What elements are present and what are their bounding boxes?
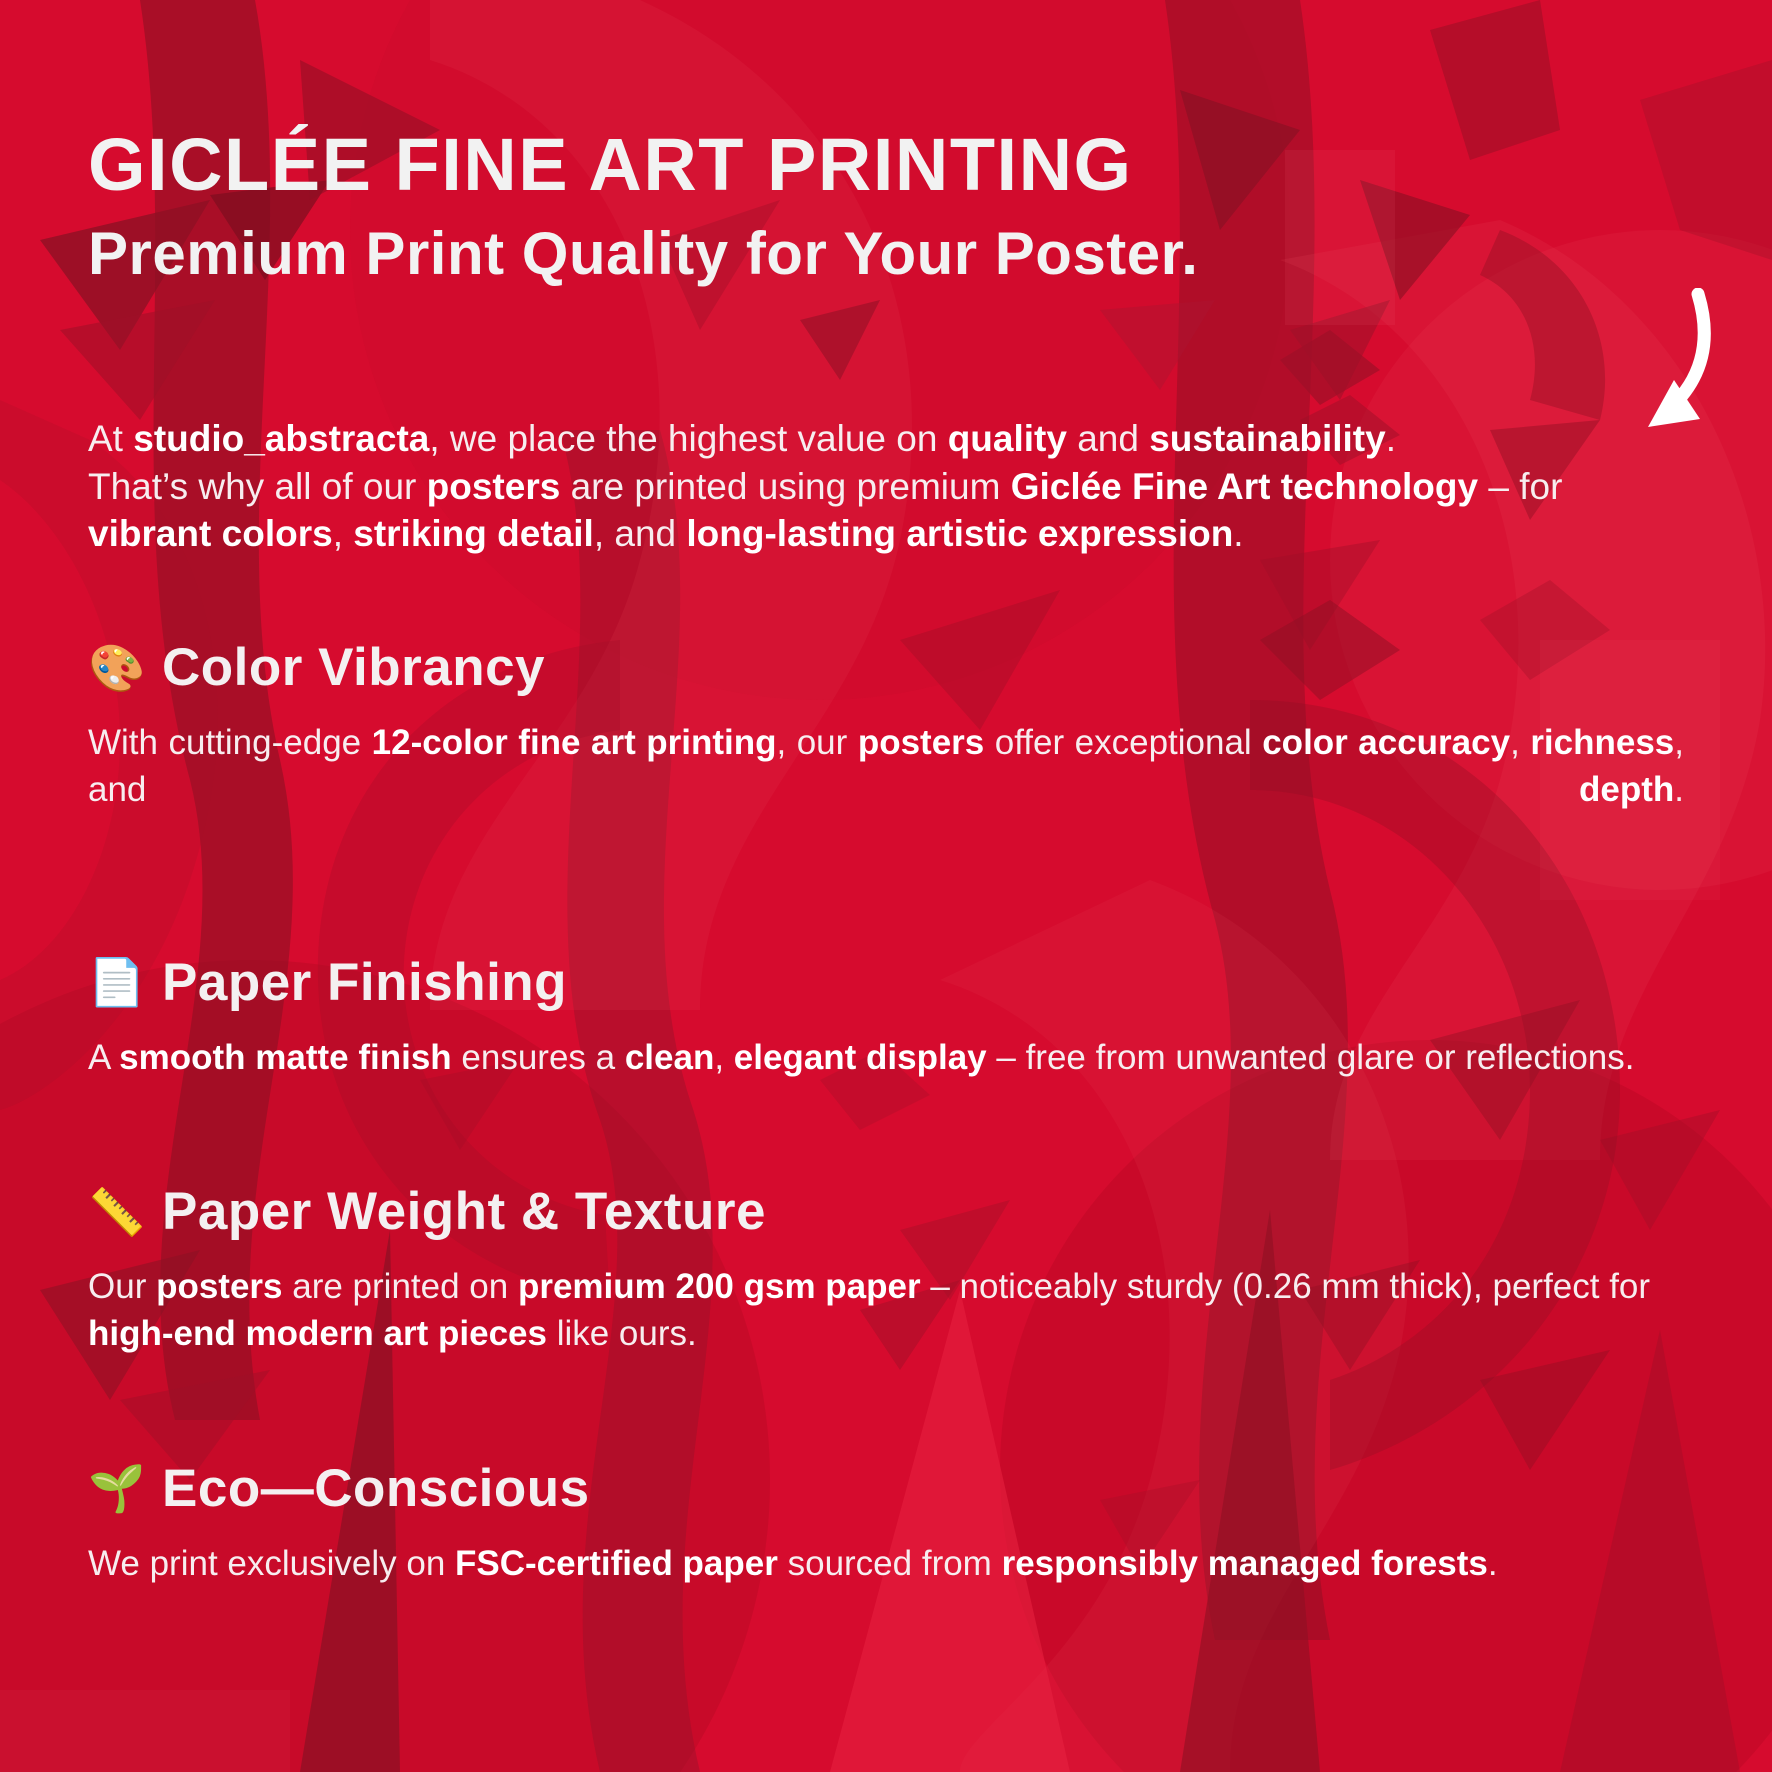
- body-text: , our: [777, 723, 858, 762]
- section-heading: 📄 Paper Finishing: [88, 956, 1684, 1009]
- body-text: ,: [714, 1038, 733, 1077]
- body-text: – free from unwanted glare or reflection…: [987, 1038, 1635, 1077]
- intro-emph: posters: [427, 466, 561, 507]
- body-text: ensures a: [452, 1038, 625, 1077]
- body-emph: richness: [1530, 723, 1674, 762]
- intro-emph: Giclée Fine Art technology: [1011, 466, 1478, 507]
- section-title: Paper Weight & Texture: [162, 1185, 766, 1238]
- section-title: Paper Finishing: [162, 956, 567, 1009]
- page-subtitle: Premium Print Quality for Your Poster.: [88, 220, 1684, 287]
- body-emph: smooth matte finish: [119, 1038, 452, 1077]
- intro-text: – for: [1478, 466, 1562, 507]
- section-title: Eco—Conscious: [162, 1462, 590, 1515]
- artist-palette-icon: 🎨: [88, 645, 140, 691]
- section-heading: 🎨 Color Vibrancy: [88, 641, 1684, 694]
- page-document-icon: 📄: [88, 959, 140, 1005]
- intro-emph: long-lasting artistic expression: [686, 513, 1233, 554]
- body-emph: elegant display: [734, 1038, 987, 1077]
- body-emph: FSC-certified paper: [455, 1544, 778, 1583]
- intro-text: and: [1067, 418, 1149, 459]
- section-heading: 📏 Paper Weight & Texture: [88, 1185, 1684, 1238]
- body-text: like ours.: [547, 1314, 697, 1353]
- body-emph: high-end modern art pieces: [88, 1314, 547, 1353]
- body-text: are printed on: [283, 1267, 518, 1306]
- straight-ruler-icon: 📏: [88, 1189, 140, 1235]
- body-text: Our: [88, 1267, 156, 1306]
- intro-text: At: [88, 418, 133, 459]
- intro-paragraph: At studio_abstracta, we place the highes…: [88, 415, 1684, 557]
- body-emph: color accuracy: [1262, 723, 1510, 762]
- body-text: ,: [1510, 723, 1530, 762]
- intro-text: .: [1233, 513, 1243, 554]
- seedling-icon: 🌱: [88, 1465, 140, 1511]
- section-body: With cutting-edge 12-color fine art prin…: [88, 720, 1684, 860]
- section-eco-conscious: 🌱 Eco—Conscious We print exclusively on …: [88, 1462, 1684, 1588]
- section-paper-finishing: 📄 Paper Finishing A smooth matte finish …: [88, 956, 1684, 1082]
- body-text: – noticeably sturdy (0.26 mm thick), per…: [921, 1267, 1650, 1306]
- poster-canvas: GICLÉE FINE ART PRINTING Premium Print Q…: [0, 0, 1772, 1772]
- intro-text: are printed using premium: [560, 466, 1010, 507]
- section-title: Color Vibrancy: [162, 641, 545, 694]
- body-text: We print exclusively on: [88, 1544, 455, 1583]
- section-paper-weight-texture: 📏 Paper Weight & Texture Our posters are…: [88, 1185, 1684, 1357]
- body-emph: clean: [625, 1038, 715, 1077]
- section-body: We print exclusively on FSC-certified pa…: [88, 1541, 1684, 1588]
- page-title: GICLÉE FINE ART PRINTING: [88, 128, 1684, 202]
- intro-text: ,: [333, 513, 354, 554]
- body-text: sourced from: [778, 1544, 1002, 1583]
- intro-emph: vibrant colors: [88, 513, 333, 554]
- body-text: .: [1488, 1544, 1498, 1583]
- intro-emph: sustainability: [1149, 418, 1385, 459]
- curved-arrow-down-left-icon: [1570, 288, 1730, 438]
- body-text: With cutting-edge: [88, 723, 372, 762]
- body-emph: posters: [156, 1267, 282, 1306]
- section-body: Our posters are printed on premium 200 g…: [88, 1264, 1684, 1357]
- body-emph: 12-color fine art printing: [372, 723, 777, 762]
- body-emph: posters: [858, 723, 984, 762]
- body-text: A: [88, 1038, 119, 1077]
- intro-text: , we place the highest value on: [429, 418, 947, 459]
- intro-emph: quality: [948, 418, 1067, 459]
- section-color-vibrancy: 🎨 Color Vibrancy With cutting-edge 12-co…: [88, 641, 1684, 860]
- body-emph: responsibly managed forests: [1002, 1544, 1488, 1583]
- intro-emph: striking detail: [353, 513, 594, 554]
- brand-name: studio_abstracta: [133, 418, 429, 459]
- body-text: offer exceptional: [984, 723, 1262, 762]
- section-heading: 🌱 Eco—Conscious: [88, 1462, 1684, 1515]
- header-block: GICLÉE FINE ART PRINTING Premium Print Q…: [88, 0, 1684, 287]
- intro-text: That’s why all of our: [88, 466, 427, 507]
- body-text: .: [1674, 770, 1684, 809]
- section-body: A smooth matte finish ensures a clean, e…: [88, 1035, 1684, 1082]
- intro-text: , and: [594, 513, 687, 554]
- body-emph: premium 200 gsm paper: [518, 1267, 921, 1306]
- body-emph: depth: [1579, 770, 1674, 809]
- intro-text: .: [1386, 418, 1396, 459]
